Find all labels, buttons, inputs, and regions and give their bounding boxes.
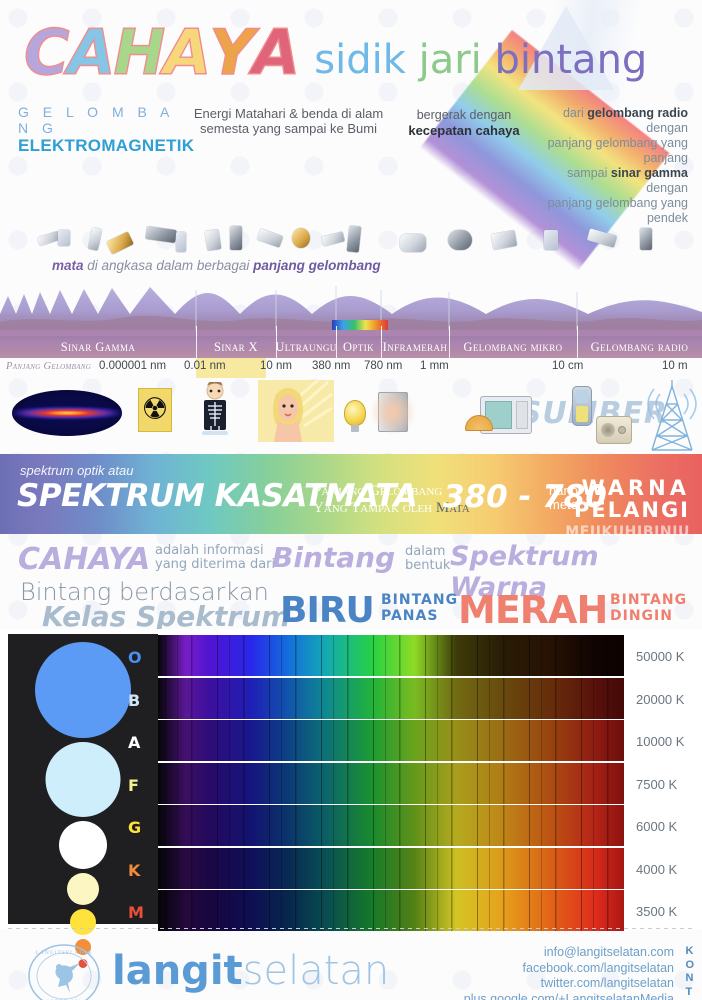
star-B [46,742,121,817]
satellite-icon [347,225,362,252]
kontak-letter: K [685,945,694,959]
title-letter-0: C [24,22,68,84]
pg-line2-a: Yang Tampak oleh [313,500,436,516]
em-band-tick [276,326,277,336]
stmt-biru: BIRU [280,590,374,631]
kontak-vertical-label: KONTAK [685,945,694,1000]
title-letter-3: A [163,22,209,84]
stmt-bintang-dingin: BINTANG DINGIN [610,592,687,624]
satellite-icon [58,230,70,246]
light-bulb-icon [344,400,366,426]
intro-dengan2-label: dengan [646,181,688,195]
visible-spectrum-banner: spektrum optik atau SPEKTRUM KASATMATA P… [0,454,702,534]
satellite-icon [257,228,284,247]
satellite-icon [88,227,102,251]
intro-pendek-line: panjang gelombang yang pendek [537,196,688,226]
em-band-gelombang-mikro: Gelombang mikro [449,336,577,358]
stmt-merah-sub1: BINTANG [610,592,687,608]
page-subtitle: sidik jari bintang [314,40,647,84]
stmt-merah-sub2: DINGIN [610,608,687,624]
stmt-dalam-bentuk: dalam bentuk [405,545,450,573]
class-letter-M: M [128,903,144,922]
subtitle-part-2: bintang [495,37,648,83]
satellite-icon [176,232,186,252]
intro-col-elektromagnetik: G E L O M B A N G ELEKTROMAGNETIK [18,104,178,226]
pg-line1-a: Panjang [313,483,369,499]
intro-col-kecepatan: bergerak dengan kecepatan cahaya [399,104,529,226]
stmt-small-2b: bentuk [405,559,450,573]
temperature-label-K: 4000 K [636,862,677,877]
class-letter-F: F [128,776,139,795]
spectrum-row-O [158,635,624,676]
page-title: CAHAYA [24,22,298,84]
spectrum-bar-K [158,848,624,889]
intro-bergerak-label: bergerak dengan [399,108,529,123]
stmt-bintang: Bintang [272,541,395,574]
spectrum-row-G [158,805,624,846]
stmt-small-1b: yang diterima dari [155,558,275,572]
intro-text-row: G E L O M B A N G ELEKTROMAGNETIK Energi… [0,100,702,226]
heater-glow [370,388,416,436]
spectrum-row-K [158,848,624,889]
satellite-icon [106,231,134,254]
satellite-icon [491,230,517,250]
radio-receiver-icon [596,416,632,444]
contact-list: info@langitselatan.comfacebook.com/langi… [464,945,674,1000]
gamma-ray-sky-map-icon [12,390,122,436]
spectrum-bar-A [158,720,624,761]
wavelength-tick-label: 380 nm [312,360,350,372]
kontak-letter: O [685,959,694,973]
satellite-icon [205,229,222,251]
em-spectrum-band: Sinar GammaSinar XUltraunguOptikInframer… [0,330,702,358]
intro-dengan-label: dengan [646,121,688,135]
wavelength-tick-label: 10 m [662,360,688,372]
mobile-phone-icon [572,386,592,426]
em-band-ultraungu: Ultraungu [276,336,336,358]
satellite-icon [640,228,652,250]
em-band-tick [381,326,382,336]
intro-dari-label: dari [563,106,587,120]
spectrum-row-B [158,678,624,719]
microwave-oven-icon [480,396,532,434]
star-O [35,642,131,738]
spectrum-row-M [158,890,624,931]
satellite-caption: mata di angkasa dalam berbagai panjang g… [52,258,381,273]
footer: LANGITSELATAN ASTRO 101 langitselatan in… [0,929,702,1000]
radiation-sources-row: SUMBER ☢ [0,378,702,454]
caption-mid-text: di angkasa dalam berbagai [84,258,254,273]
caption-panjang-gelombang-word: panjang gelombang [253,258,381,273]
em-band-gelombang-radio: Gelombang radio [577,336,702,358]
satellite-icon [321,231,345,246]
wavelength-scale-row: Panjang Gelombang 0.000001 nm0.01 nm10 n… [0,358,702,378]
satellite-icon [292,228,310,248]
satellite-icon [448,230,472,250]
satellite-illustration-row: mata di angkasa dalam berbagai panjang g… [0,226,702,284]
em-band-sinar-gamma: Sinar Gamma [0,336,196,358]
em-band-tick [196,326,197,336]
wavelength-tick-label: 0.01 nm [184,360,226,372]
wavelength-tick-label: 780 nm [364,360,402,372]
intro-gelombang-radio-label: gelombang radio [587,106,688,120]
svg-text:LANGITSELATAN: LANGITSELATAN [36,950,93,956]
header: CAHAYA sidik jari bintang [0,0,702,100]
temperature-label-F: 7500 K [636,777,677,792]
brand-wordmark[interactable]: langitselatan [112,951,389,991]
em-band-tick [336,326,337,336]
title-letter-5: A [252,22,298,84]
temperature-label-O: 50000 K [636,649,684,664]
intro-elektromagnetik-label: ELEKTROMAGNETIK [18,136,178,156]
spectrum-row-A [158,720,624,761]
subtitle-part-1: jari [419,37,495,83]
warna-label: WARNA [565,477,690,499]
contact-line[interactable]: twitter.com/langitselatan [464,976,674,992]
subtitle-part-0: sidik [314,37,418,83]
class-letter-O: O [128,648,142,667]
intro-col-energi: Energi Matahari & benda di alam semesta … [186,104,391,226]
class-letter-A: A [128,733,140,752]
xray-child-scan-icon [198,382,228,430]
spectrum-bar-O [158,635,624,676]
spectrum-bar-M [158,890,624,931]
intro-col-radio-gamma: dari gelombang radio dengan panjang gelo… [537,104,688,226]
infographic-page: CAHAYA sidik jari bintang G E L O M B A … [0,0,702,1000]
spectrum-bar-G [158,805,624,846]
title-letter-2: H [114,22,164,84]
satellite-icon [544,230,558,250]
spektrum-optik-label: spektrum optik atau [20,463,133,478]
caption-mata-word: mata [52,258,84,273]
sun-tanning-woman-icon [258,380,316,430]
class-letter-K: K [128,861,140,880]
star-F [67,873,99,905]
class-letter-G: G [128,818,141,837]
statements-block: CAHAYA adalah informasi yang diterima da… [0,534,702,629]
stmt-small-1a: adalah informasi [155,544,275,558]
stmt-bintang-panas: BINTANG PANAS [381,592,458,624]
temperature-label-G: 6000 K [636,819,677,834]
em-band-tick [449,326,450,336]
brand-langit: langit [112,948,243,994]
kontak-letter: N [685,972,694,986]
optik-rainbow-swatch [332,320,388,330]
contact-line[interactable]: plus.google.com/+LangitselatanMedia [464,992,674,1000]
wavelength-tick-label: 10 nm [260,360,292,372]
radiation-hazard-sign-icon: ☢ [138,388,172,432]
em-band-inframerah: Inframerah [381,336,449,358]
spectrum-bar-B [158,678,624,719]
em-band-optik: Optik [336,336,381,358]
contact-line[interactable]: info@langitselatan.com [464,945,674,961]
wavelength-scale-title: Panjang Gelombang [6,361,91,372]
stmt-cahaya: CAHAYA [18,542,150,577]
satellite-icon [145,226,177,243]
star-A [59,821,107,869]
kontak-letter: T [685,986,694,1000]
temperature-label-M: 3500 K [636,904,677,919]
title-letter-1: A [68,22,114,84]
intro-gelombang-label: G E L O M B A N G [18,104,178,136]
satellite-icon [587,228,617,247]
wavelength-tick-label: 1 mm [420,360,449,372]
pg-line1-b: Gelombang [369,483,442,499]
langitselatan-seal-logo: LANGITSELATAN ASTRO 101 [26,943,102,1000]
stmt-biru-sub2: PANAS [381,608,458,624]
stmt-merah: MERAH [458,588,607,632]
spectrum-bar-F [158,763,624,804]
temperature-label-A: 10000 K [636,734,684,749]
em-band-tick [577,326,578,336]
em-band-sinar-x: Sinar X [196,336,276,358]
radio-transmission-tower-icon [646,380,698,452]
temperature-label-B: 20000 K [636,692,684,707]
satellite-icon [400,234,426,252]
spectral-class-chart: OBAFGKM 50000 K20000 K10000 K7500 K6000 … [0,629,702,929]
brand-selatan: selatan [243,948,390,994]
intro-sampai-label: sampai [567,166,611,180]
contact-line[interactable]: facebook.com/langitselatan [464,961,674,977]
intro-kecepatan-cahaya-label: kecepatan cahaya [408,123,519,138]
wavelength-tick-label: 0.000001 nm [99,360,166,372]
stmt-biru-sub1: BINTANG [381,592,458,608]
spectrum-row-F [158,763,624,804]
electric-heater-icon [378,392,408,432]
title-letter-4: Y [209,22,252,84]
intro-sinar-gamma-label: sinar gamma [611,166,688,180]
pelangi-label: PELANGI [565,499,690,521]
stmt-adalah-informasi: adalah informasi yang diterima dari [155,544,275,572]
stmt-small-2a: dalam [405,545,450,559]
intro-panjang-line: panjang gelombang yang panjang [537,136,688,166]
class-letter-B: B [128,691,140,710]
wavelength-tick-label: 10 cm [552,360,583,372]
satellite-icon [230,226,242,250]
